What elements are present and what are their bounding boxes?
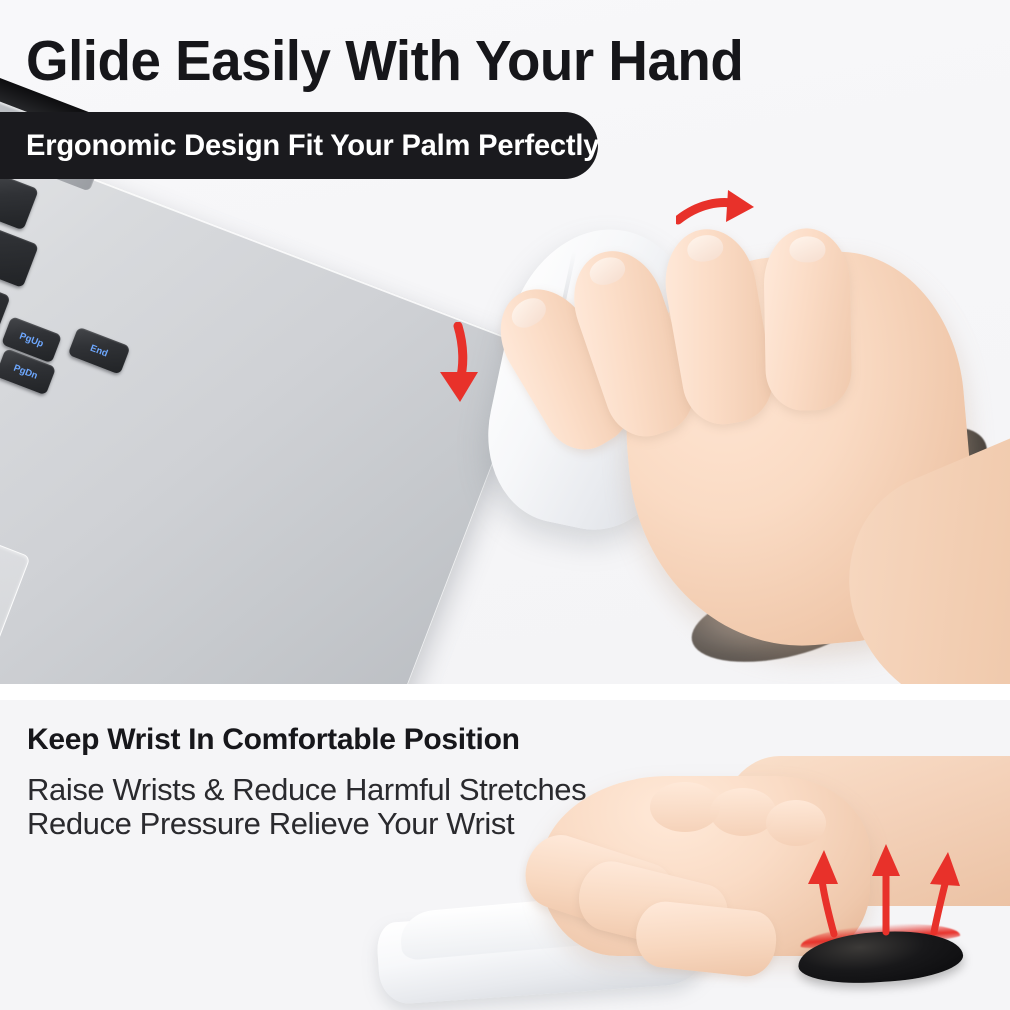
body-text-line-2: Reduce Pressure Relieve Your Wrist: [27, 806, 514, 842]
key-label: PgUp: [18, 330, 45, 349]
fingernail: [586, 253, 629, 289]
glide-right-arrow: [676, 190, 766, 242]
key-label: PgDn: [12, 362, 39, 381]
little-finger: [763, 228, 852, 411]
product-feature-image: Backspace Enter Shift PgUp PgDn: [0, 0, 1010, 1010]
section-heading: Keep Wrist In Comfortable Position: [27, 723, 520, 757]
subtitle-banner: Ergonomic Design Fit Your Palm Perfectly: [0, 112, 598, 179]
hand-on-mouse-top-scene: [568, 195, 1010, 684]
section-divider: [0, 684, 1010, 700]
thumb: [633, 899, 779, 979]
fingernail: [789, 236, 825, 263]
fingernail: [507, 292, 551, 333]
support-arrows-group: [800, 840, 970, 940]
page-title: Glide Easily With Your Hand: [26, 28, 743, 94]
key-end[interactable]: End: [68, 327, 131, 375]
top-feature-panel: Backspace Enter Shift PgUp PgDn: [0, 0, 1010, 684]
subtitle-banner-label: Ergonomic Design Fit Your Palm Perfectly: [26, 129, 599, 163]
key-label: End: [89, 342, 110, 359]
body-text-line-1: Raise Wrists & Reduce Harmful Stretches: [27, 772, 586, 808]
glide-down-arrow: [434, 322, 486, 412]
